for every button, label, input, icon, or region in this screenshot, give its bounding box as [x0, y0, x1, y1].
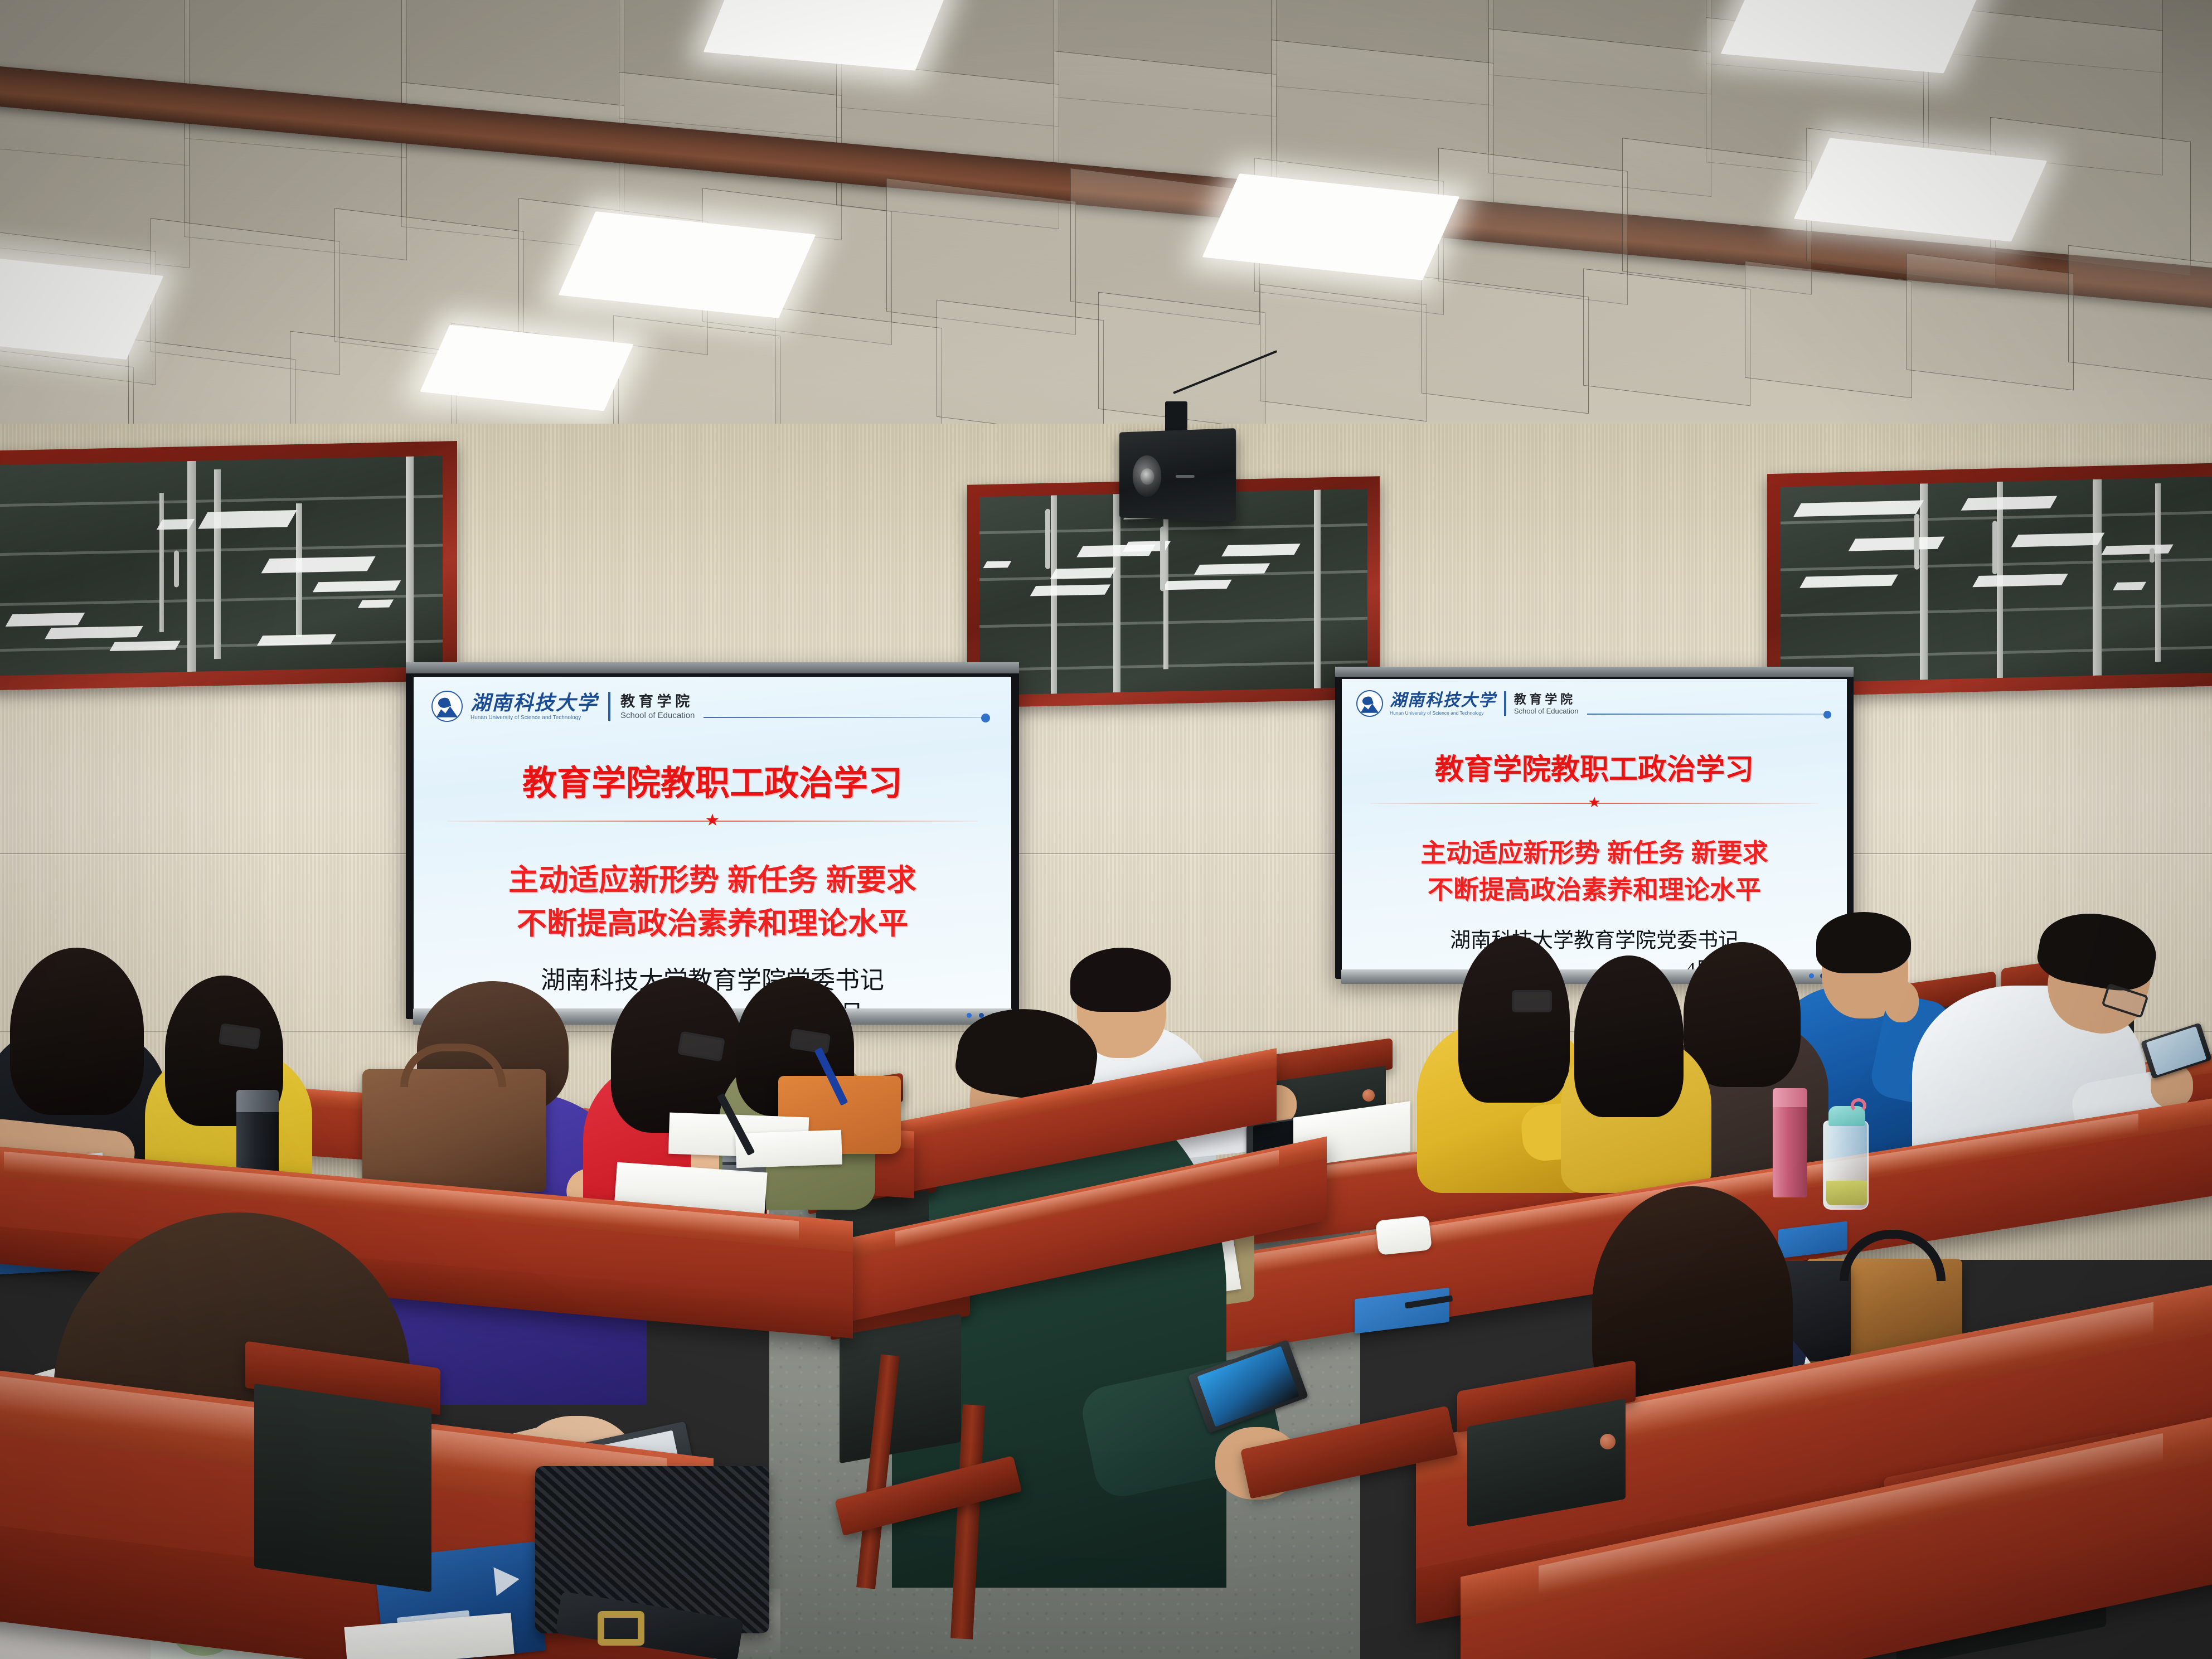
board-led-icon — [1809, 973, 1814, 978]
header-dot-icon — [981, 714, 990, 722]
department-name-en: School of Education — [620, 710, 695, 721]
board-bezel-top — [406, 662, 1019, 673]
slide-right: 湖南科技大学 Hunan University of Science and T… — [1342, 679, 1847, 972]
slide-title: 教育学院教职工政治学习 — [1342, 746, 1847, 788]
tissue — [1375, 1215, 1432, 1255]
slide-footer: 湖南科技大学教育学院党委书记 — [1342, 923, 1847, 953]
handbag-buckle — [598, 1611, 644, 1646]
star-icon: ★ — [1342, 794, 1847, 811]
slide-line-1: 主动适应新形势 新任务 新要求 — [414, 855, 1011, 899]
eyeglasses-icon — [1512, 990, 1552, 1012]
department-name-cn: 教育学院 — [620, 692, 695, 710]
university-name-en: Hunan University of Science and Technolo… — [470, 714, 598, 721]
window-glass-right — [1781, 476, 2212, 683]
slide-line-2: 不断提高政治素养和理论水平 — [414, 899, 1011, 943]
university-name-en: Hunan University of Science and Technolo… — [1390, 710, 1496, 716]
header-dot-icon — [1823, 711, 1831, 719]
logo-divider — [608, 692, 610, 721]
interactive-whiteboard-left[interactable]: 湖南科技大学 Hunan University of Science and T… — [406, 662, 1019, 1019]
star-icon: ★ — [414, 811, 1011, 830]
thermos-pink[interactable] — [1773, 1088, 1807, 1197]
speaker-cone-icon — [1133, 455, 1161, 497]
handbag-brown[interactable] — [362, 1069, 546, 1192]
university-emblem-icon — [1356, 690, 1383, 717]
university-name-cn: 湖南科技大学 — [470, 692, 598, 714]
slide-logo-block: 湖南科技大学 Hunan University of Science and T… — [1356, 687, 1578, 720]
university-emblem-icon — [431, 691, 463, 722]
department-name-cn: 教育学院 — [1514, 692, 1579, 707]
window-glass-left — [0, 456, 443, 676]
university-name-cn: 湖南科技大学 — [1390, 691, 1496, 710]
board-led-icon — [967, 1013, 972, 1018]
chair[interactable] — [245, 1355, 440, 1600]
board-bezel-top — [1335, 667, 1854, 677]
water-bottle[interactable] — [1823, 1120, 1869, 1210]
slide-title: 教育学院教职工政治学习 — [414, 755, 1011, 805]
meeting-room-photo: 湖南科技大学 Hunan University of Science and T… — [0, 0, 2212, 1659]
slide-line-2: 不断提高政治素养和理论水平 — [1342, 870, 1847, 906]
ceiling — [0, 0, 2212, 479]
window-glass-center — [979, 489, 1367, 696]
chair[interactable] — [1457, 1376, 1636, 1526]
window-frame-right — [1767, 463, 2212, 697]
window-frame-left — [0, 441, 457, 691]
slide-left: 湖南科技大学 Hunan University of Science and T… — [414, 677, 1011, 1012]
interactive-whiteboard-right[interactable]: 湖南科技大学 Hunan University of Science and T… — [1335, 667, 1854, 979]
slide-logo-block: 湖南科技大学 Hunan University of Science and T… — [431, 687, 695, 726]
department-name-en: School of Education — [1514, 707, 1579, 716]
logo-divider — [1504, 691, 1506, 716]
slide-line-1: 主动适应新形势 新任务 新要求 — [1342, 833, 1847, 870]
header-rule — [704, 717, 987, 718]
header-rule — [1587, 714, 1829, 715]
